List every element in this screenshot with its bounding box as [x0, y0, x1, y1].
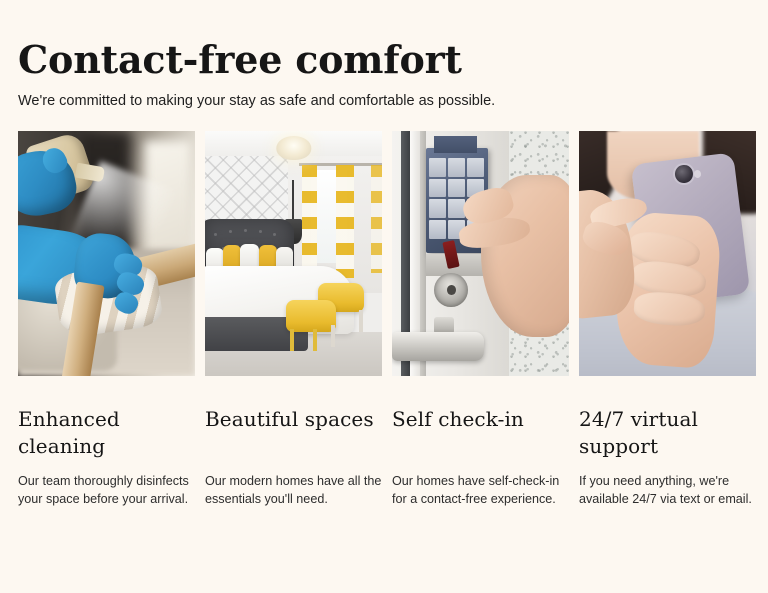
keyhole: [447, 285, 456, 295]
feature-card-virtual-support[interactable]: 24/7 virtual support If you need anythin…: [579, 131, 756, 508]
keypad-button[interactable]: [429, 199, 446, 218]
yellow-ottoman-front: [286, 300, 336, 332]
keypad-button[interactable]: [429, 220, 446, 239]
contact-free-comfort-page: Contact-free comfort We're committed to …: [0, 0, 768, 593]
striped-curtain-right: [336, 165, 354, 278]
feature-card-beautiful-spaces[interactable]: Beautiful spaces Our modern homes have a…: [205, 131, 382, 508]
card-body: Our modern homes have all the essentials…: [205, 472, 382, 508]
feature-card-enhanced-cleaning[interactable]: Enhanced cleaning Our team thoroughly di…: [18, 131, 195, 508]
card-body: Our team thoroughly disinfects your spac…: [18, 472, 195, 508]
feature-card-grid: Enhanced cleaning Our team thoroughly di…: [18, 131, 750, 508]
keypad-button[interactable]: [448, 158, 465, 177]
card-title: 24/7 virtual support: [579, 406, 756, 460]
card-body: If you need anything, we're available 24…: [579, 472, 756, 508]
keypad-button[interactable]: [429, 158, 446, 177]
keypad-button[interactable]: [429, 179, 446, 198]
photo-enhanced-cleaning: [18, 131, 195, 376]
photo-virtual-support: [579, 131, 756, 376]
photo-self-check-in: [392, 131, 569, 376]
keypad-button[interactable]: [448, 179, 465, 198]
keypad-top-bracket: [434, 136, 476, 153]
card-title: Enhanced cleaning: [18, 406, 195, 460]
page-header: Contact-free comfort We're committed to …: [18, 0, 750, 111]
feature-card-self-check-in[interactable]: Self check-in Our homes have self-check-…: [392, 131, 569, 508]
pendant-cord: [292, 180, 294, 224]
page-title: Contact-free comfort: [18, 38, 750, 82]
keypad-button[interactable]: [467, 158, 484, 177]
striped-curtain-far: [371, 165, 382, 273]
card-body: Our homes have self-check-in for a conta…: [392, 472, 569, 508]
ceiling-light: [276, 136, 311, 161]
door-lever-handle[interactable]: [392, 332, 484, 361]
page-subtitle: We're committed to making your stay as s…: [18, 91, 750, 111]
photo-beautiful-spaces: [205, 131, 382, 376]
card-title: Self check-in: [392, 406, 569, 460]
card-title: Beautiful spaces: [205, 406, 382, 460]
